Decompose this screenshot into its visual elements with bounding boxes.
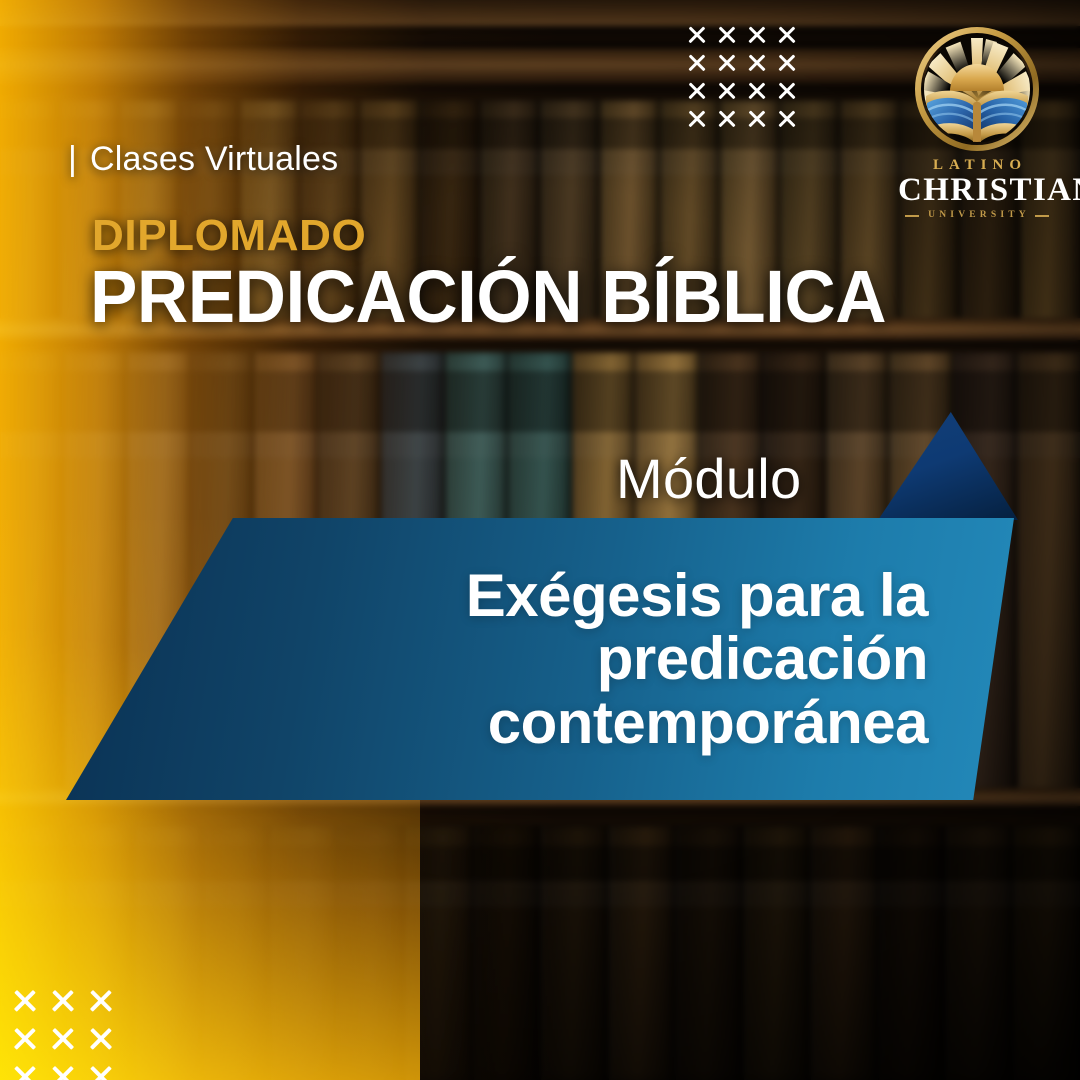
module-title-line-2: predicación [597, 627, 928, 691]
kicker-bar: | [68, 140, 77, 179]
rule-left [905, 215, 919, 217]
x-mark-icon [52, 1066, 74, 1080]
x-mark-icon [688, 82, 705, 99]
page-title: PREDICACIÓN BÍBLICA [90, 254, 886, 339]
x-mark-icon [748, 26, 765, 43]
x-mark-icon [718, 110, 735, 127]
kicker-label: Clases Virtuales [90, 140, 338, 178]
x-mark-icon [718, 82, 735, 99]
x-mark-icon [688, 26, 705, 43]
x-mark-icon [90, 1066, 112, 1080]
x-mark-icon [90, 990, 112, 1012]
x-mark-icon [52, 1028, 74, 1050]
x-mark-icon [52, 990, 74, 1012]
logo-university-text: UNIVERSITY [924, 211, 1030, 221]
logo-line-christian: CHRISTIAN [898, 174, 1056, 207]
x-mark-icon [778, 54, 795, 71]
x-mark-icon [778, 110, 795, 127]
kicker-line: |Clases Virtuales [68, 140, 338, 179]
x-mark-icon [718, 26, 735, 43]
logo-line-university: UNIVERSITY [898, 211, 1056, 221]
x-mark-icon [718, 54, 735, 71]
sunrise-open-book-emblem-icon [910, 22, 1044, 156]
x-mark-icon [748, 82, 765, 99]
x-mark-icon [748, 110, 765, 127]
x-pattern-top-right [688, 26, 808, 138]
x-mark-icon [90, 1028, 112, 1050]
module-title-line-3: contemporánea [488, 691, 928, 755]
x-mark-icon [14, 990, 36, 1012]
module-label: Módulo [616, 446, 801, 511]
x-mark-icon [14, 1028, 36, 1050]
logo-wordmark: LATINO CHRISTIAN UNIVERSITY [898, 158, 1056, 221]
x-pattern-bottom-left [14, 990, 128, 1080]
x-mark-icon [688, 110, 705, 127]
module-title-line-1: Exégesis para la [466, 564, 928, 628]
x-mark-icon [778, 26, 795, 43]
x-mark-icon [778, 82, 795, 99]
course-promo-poster: |Clases Virtuales DIPLOMADO PREDICACIÓN … [0, 0, 1080, 1080]
university-logo: LATINO CHRISTIAN UNIVERSITY [898, 22, 1056, 212]
x-mark-icon [688, 54, 705, 71]
logo-line-latino: LATINO [898, 158, 1056, 173]
x-mark-icon [748, 54, 765, 71]
rule-right [1035, 215, 1049, 217]
x-mark-icon [14, 1066, 36, 1080]
module-title-text-group: Exégesis para la predicación contemporán… [66, 518, 1014, 800]
